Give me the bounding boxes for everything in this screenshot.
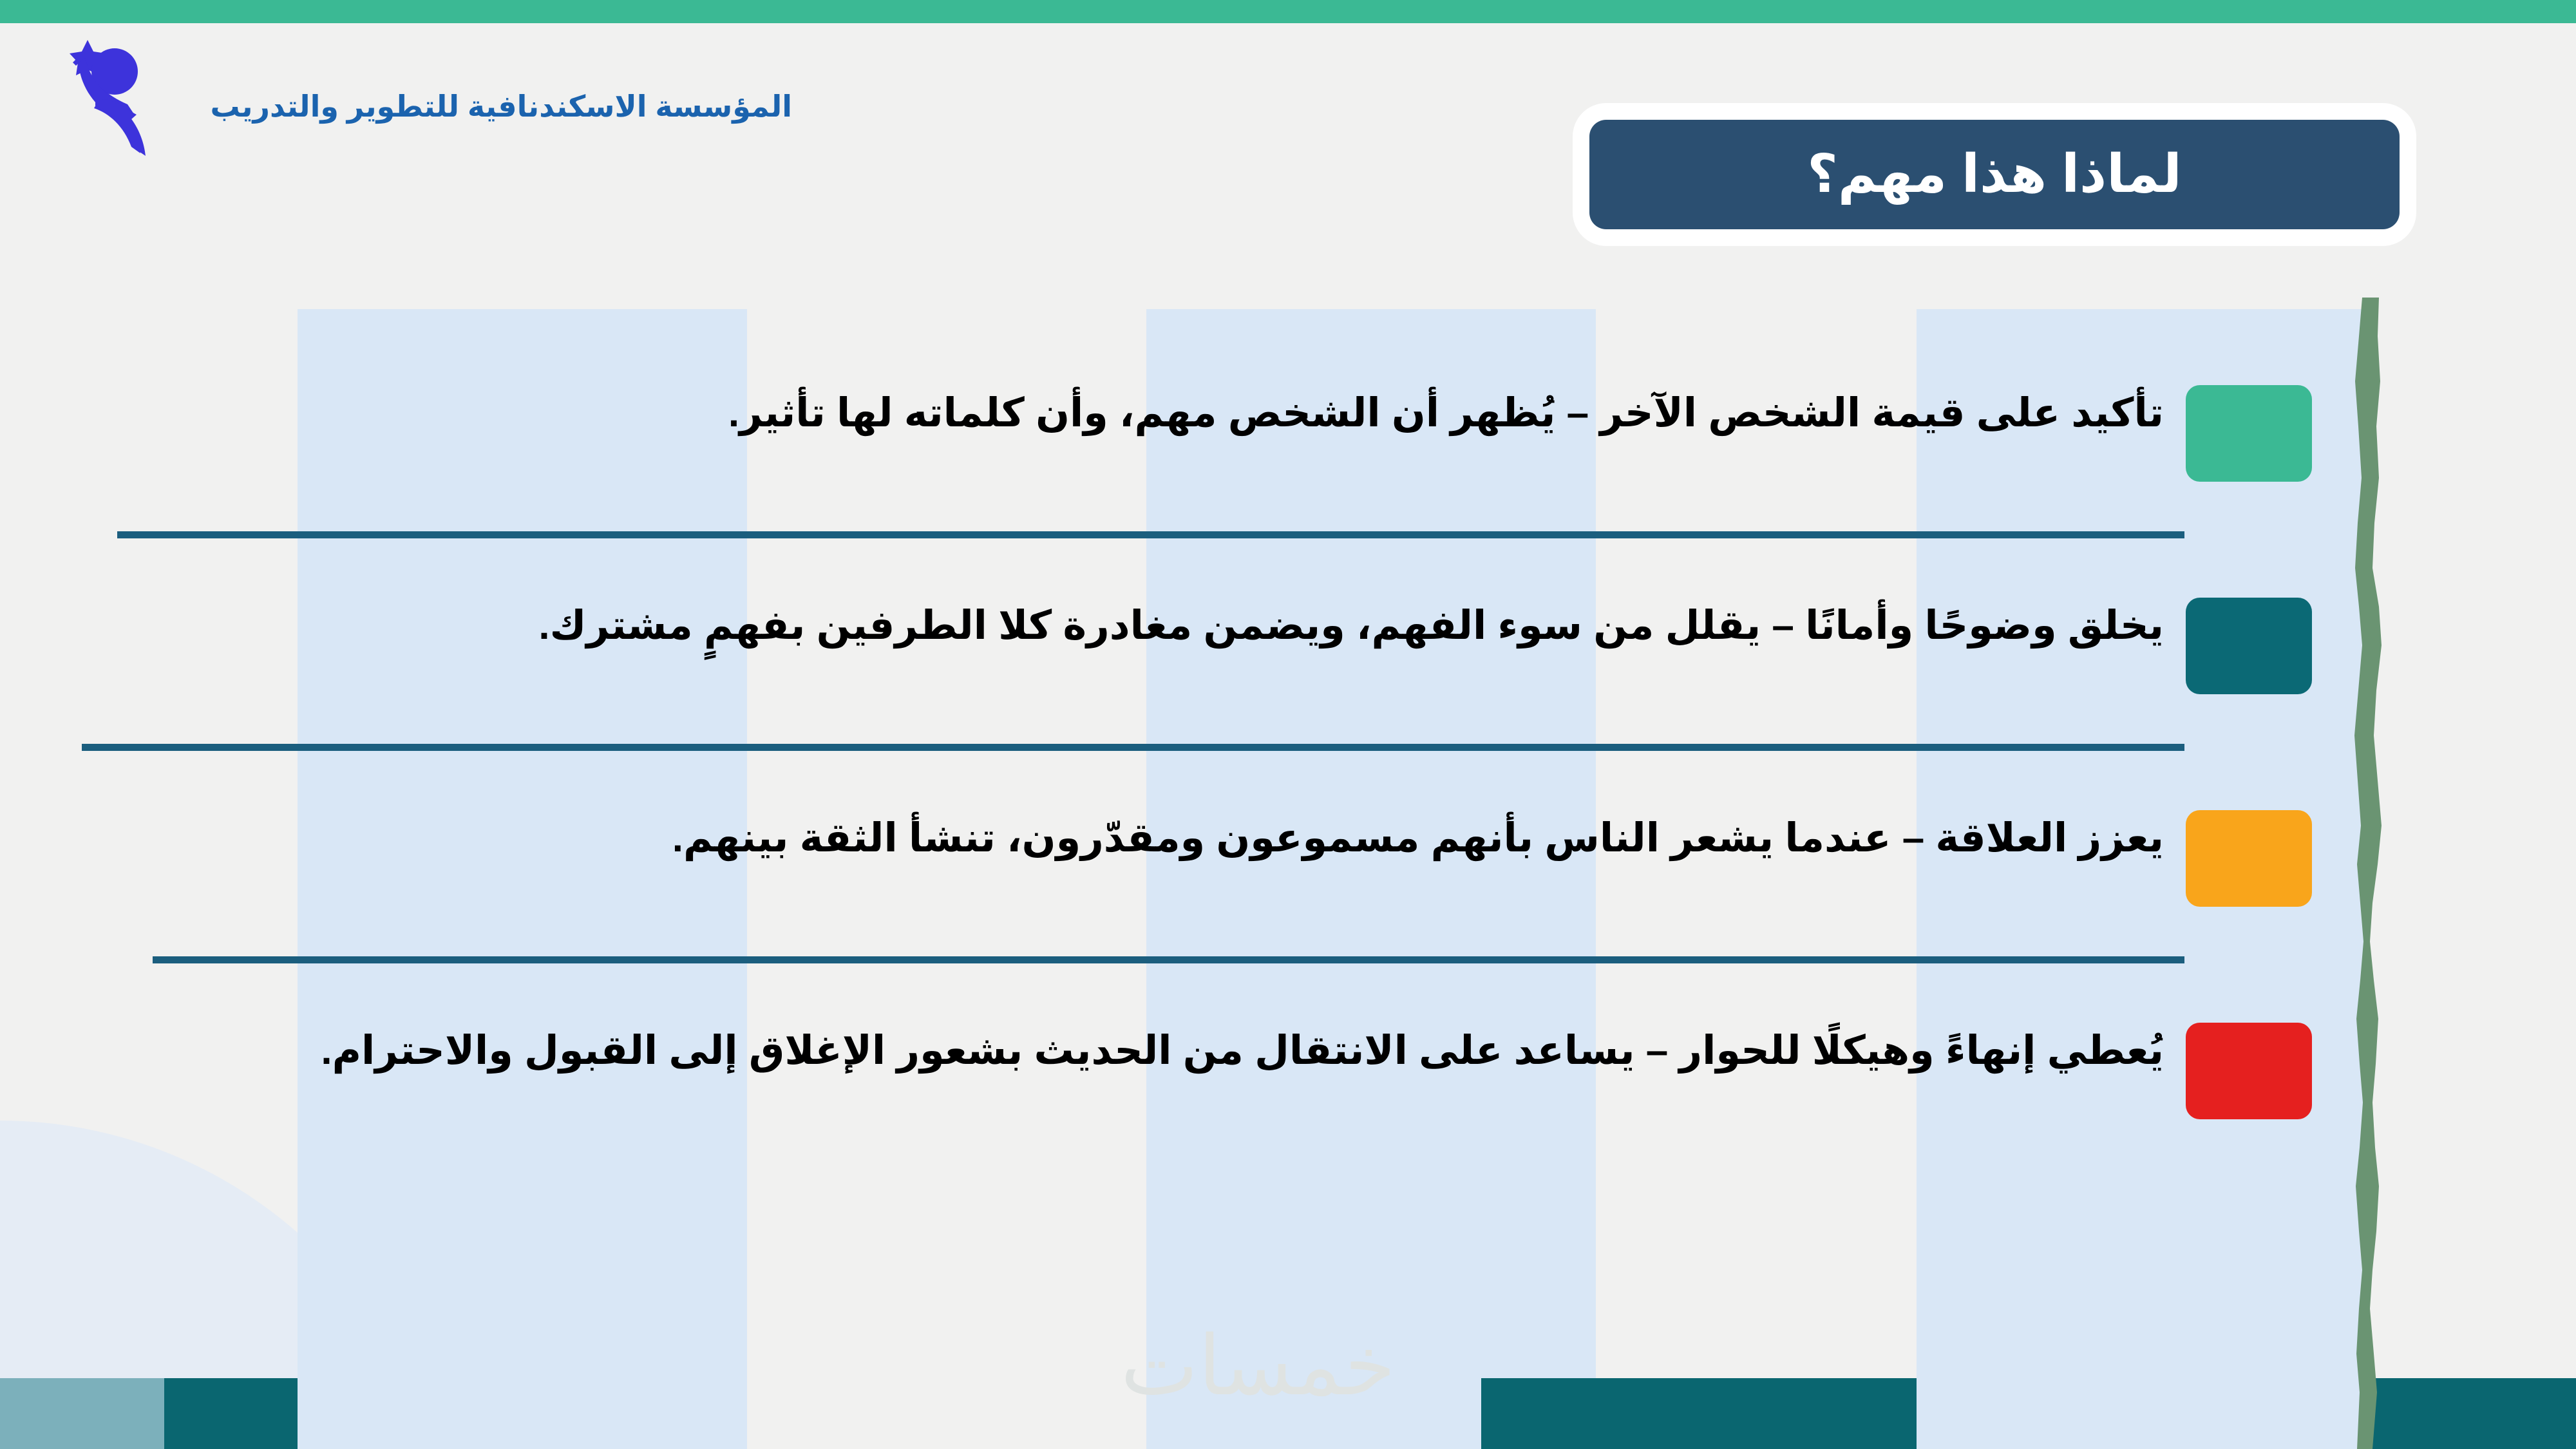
organization-name: المؤسسة الاسكندنافية للتطوير والتدريب bbox=[211, 89, 793, 124]
color-chip-green bbox=[2186, 385, 2312, 482]
person-reaching-star-icon bbox=[70, 33, 192, 194]
list-item-text: يُعطي إنهاءً وهيكلًا للحوار – يساعد على … bbox=[90, 1027, 2164, 1075]
bottom-bar-1 bbox=[164, 1378, 298, 1449]
list-item: يخلق وضوحًا وأمانًا – يقلل من سوء الفهم،… bbox=[0, 573, 2576, 786]
content-list: تأكيد على قيمة الشخص الآخر – يُظهر أن ال… bbox=[0, 361, 2576, 1211]
row-divider bbox=[82, 744, 2184, 751]
watermark: خمسات bbox=[1121, 1325, 1396, 1408]
color-chip-orange bbox=[2186, 810, 2312, 907]
bottom-bar-3 bbox=[2361, 1378, 2576, 1449]
list-item: يُعطي إنهاءً وهيكلًا للحوار – يساعد على … bbox=[0, 998, 2576, 1211]
top-accent-bar bbox=[0, 0, 2576, 23]
list-item: تأكيد على قيمة الشخص الآخر – يُظهر أن ال… bbox=[0, 361, 2576, 573]
row-divider bbox=[117, 531, 2184, 538]
list-item: يعزز العلاقة – عندما يشعر الناس بأنهم مس… bbox=[0, 786, 2576, 998]
list-item-text: يخلق وضوحًا وأمانًا – يقلل من سوء الفهم،… bbox=[90, 601, 2164, 650]
presentation-slide: خمسات المؤسسة الاسكندنافية للتطوير والتد… bbox=[0, 0, 2576, 1449]
bottom-bar-pale bbox=[0, 1378, 164, 1449]
color-chip-teal bbox=[2186, 598, 2312, 694]
color-chip-red bbox=[2186, 1023, 2312, 1119]
page-title: لماذا هذا مهم؟ bbox=[1807, 148, 2181, 201]
row-divider bbox=[153, 956, 2184, 963]
organization-logo bbox=[70, 33, 192, 194]
slide-title-card: لماذا هذا مهم؟ bbox=[1589, 120, 2400, 229]
list-item-text: يعزز العلاقة – عندما يشعر الناس بأنهم مس… bbox=[90, 814, 2164, 863]
bottom-bar-2 bbox=[1481, 1378, 1917, 1449]
list-item-text: تأكيد على قيمة الشخص الآخر – يُظهر أن ال… bbox=[90, 389, 2164, 438]
